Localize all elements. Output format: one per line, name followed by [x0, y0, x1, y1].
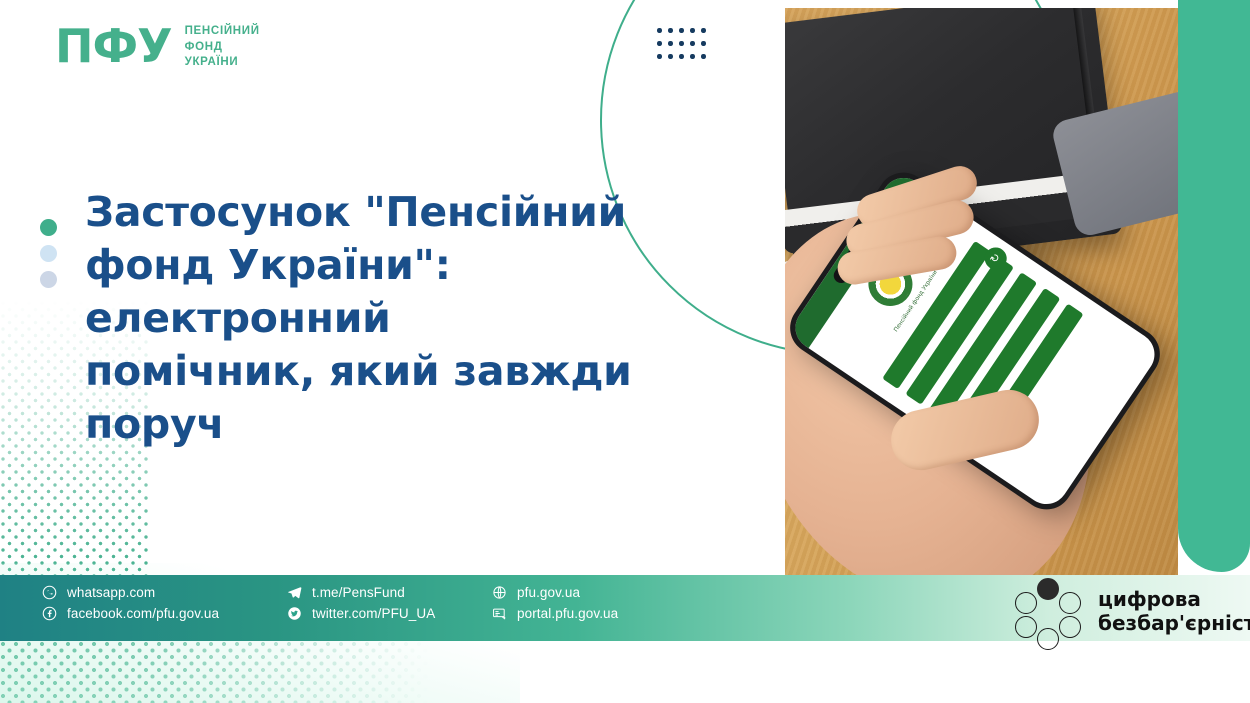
accessibility-dot: [1015, 616, 1037, 638]
logo-line-1: Пенсійний: [185, 24, 260, 39]
twitter-icon: [287, 606, 302, 621]
footer-link-label: whatsapp.com: [67, 585, 155, 600]
digital-accessibility-logo: цифрова безбар'єрність: [1012, 578, 1250, 644]
bullet-grey-blue: [40, 271, 57, 288]
logo-line-3: України: [185, 55, 260, 70]
pfu-logo-mark: ПФУ: [55, 23, 172, 69]
accessibility-dot: [1037, 628, 1059, 650]
bullet-green: [40, 219, 57, 236]
footer-link-whatsapp[interactable]: whatsapp.com: [42, 585, 287, 600]
promo-banner: ПФУ Пенсійний фонд України Застосунок "П…: [0, 0, 1250, 703]
footer-link-label: t.me/PensFund: [312, 585, 405, 600]
footer-link-website[interactable]: pfu.gov.ua: [492, 585, 712, 600]
hero-photo: Пенсійний фонд України ↻: [785, 8, 1178, 575]
halftone-pattern-bottom: [0, 641, 430, 703]
whatsapp-icon: [42, 585, 57, 600]
footer-link-twitter[interactable]: twitter.com/PFU_UA: [287, 606, 492, 621]
grid-dot: [657, 28, 662, 33]
grid-dot: [657, 41, 662, 46]
facebook-icon: [42, 606, 57, 621]
pfu-logo-words: Пенсійний фонд України: [185, 22, 260, 70]
accessibility-dot: [1059, 592, 1081, 614]
headline-block: Застосунок "Пенсійний фонд України": еле…: [85, 186, 765, 450]
headline-bullets: [40, 219, 57, 288]
grid-dot: [679, 28, 684, 33]
accessibility-label-line-2: безбар'єрність: [1098, 611, 1250, 635]
grid-dot: [690, 54, 695, 59]
grid-dot: [679, 41, 684, 46]
footer-link-label: facebook.com/pfu.gov.ua: [67, 606, 219, 621]
footer-column-2: t.me/PensFund twitter.com/PFU_UA: [287, 585, 492, 621]
portal-icon: [492, 606, 507, 621]
headline-line-3: помічник, який завжди поруч: [85, 345, 765, 451]
accessibility-dot: [1059, 616, 1081, 638]
logo-line-2: фонд: [185, 40, 260, 55]
grid-dot: [668, 28, 673, 33]
grid-dot: [701, 28, 706, 33]
accessibility-dot: [1015, 592, 1037, 614]
green-side-panel: [1178, 0, 1250, 572]
footer-link-label: pfu.gov.ua: [517, 585, 580, 600]
grid-dot: [690, 41, 695, 46]
footer-link-label: portal.pfu.gov.ua: [517, 606, 618, 621]
bullet-light-blue: [40, 245, 57, 262]
telegram-icon: [287, 585, 302, 600]
pfu-logo: ПФУ Пенсійний фонд України: [55, 22, 260, 70]
headline-line-1: Застосунок "Пенсійний: [85, 186, 765, 239]
accessibility-label: цифрова безбар'єрність: [1098, 587, 1250, 635]
grid-dot: [679, 54, 684, 59]
grid-dot: [668, 41, 673, 46]
footer-link-portal[interactable]: portal.pfu.gov.ua: [492, 606, 712, 621]
footer-link-label: twitter.com/PFU_UA: [312, 606, 435, 621]
footer-link-facebook[interactable]: facebook.com/pfu.gov.ua: [42, 606, 287, 621]
accessibility-label-line-1: цифрова: [1098, 587, 1250, 611]
headline-line-2: фонд України": електронний: [85, 239, 765, 345]
grid-dot: [668, 54, 673, 59]
accessibility-circles-icon: [1012, 578, 1084, 644]
dot-grid-ornament: [657, 28, 712, 67]
grid-dot: [701, 41, 706, 46]
grid-dot: [657, 54, 662, 59]
footer-column-1: whatsapp.com facebook.com/pfu.gov.ua: [42, 585, 287, 621]
accessibility-dot-filled: [1037, 578, 1059, 600]
grid-dot: [701, 54, 706, 59]
footer-contact-columns: whatsapp.com facebook.com/pfu.gov.ua: [42, 585, 712, 621]
globe-icon: [492, 585, 507, 600]
footer-link-telegram[interactable]: t.me/PensFund: [287, 585, 492, 600]
grid-dot: [690, 28, 695, 33]
footer-column-3: pfu.gov.ua portal.pfu.gov.ua: [492, 585, 712, 621]
